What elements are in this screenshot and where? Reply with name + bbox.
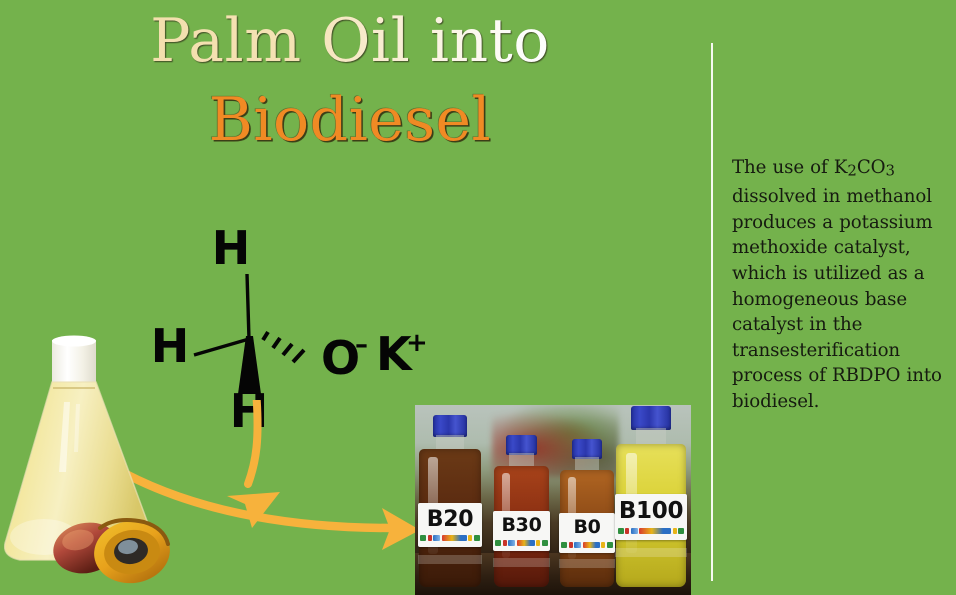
atom-hydrogen-bottom: H (230, 384, 269, 437)
bottle-cap-b30 (506, 435, 537, 455)
infographic-poster: Palm Oil into Biodiesel The use of K2CO3… (0, 0, 956, 595)
description-paragraph: The use of K2CO3 dissolved in methanol p… (732, 155, 948, 415)
bottle-cap-b0 (572, 439, 602, 459)
bottle-b30: B30 (494, 435, 549, 587)
bottle-label-text-b0: B0 (573, 518, 600, 537)
bottle-logo-strip-b0 (561, 541, 613, 548)
flask-and-palm-fruit (4, 332, 180, 595)
poster-title: Palm Oil into Biodiesel (0, 6, 700, 152)
bond-hash-carbon-oxygen (263, 332, 304, 362)
potassium-positive-charge: + (406, 328, 428, 358)
bottle-b0: B0 (560, 439, 614, 587)
atom-hydrogen-top: H (212, 221, 251, 275)
description-text-before: The use of K (732, 157, 847, 178)
flask-neck (52, 340, 96, 386)
bond-carbon-hydrogen-top (247, 274, 249, 339)
chemical-structure-potassium-methoxide: H H H O – K + (150, 212, 450, 437)
vertical-divider (711, 43, 713, 581)
title-line-primary: Palm Oil into (0, 6, 700, 75)
bottle-base-strip-b0 (559, 559, 615, 568)
bottle-b20: B20 (419, 415, 481, 587)
bottle-b100: B100 (616, 406, 686, 587)
bottle-logo-strip-b20 (420, 535, 479, 542)
title-line-secondary: Biodiesel (0, 75, 700, 152)
bottle-cap-b100 (631, 406, 670, 430)
short-arrow-head (227, 492, 280, 528)
oxygen-negative-charge: – (355, 330, 368, 360)
description-text-after: dissolved in methanol produces a potassi… (732, 186, 942, 412)
formula-subscript-two: 2 (847, 162, 856, 180)
bottle-label-b20: B20 (418, 503, 482, 547)
bottle-cap-b20 (433, 415, 468, 437)
bottle-label-b100: B100 (615, 494, 688, 540)
bottle-base-strip-b30 (493, 558, 550, 567)
bottle-label-text-b20: B20 (427, 509, 473, 531)
formula-mid: CO (857, 157, 886, 178)
bottle-base-strip-b100 (615, 548, 688, 557)
bottle-label-text-b100: B100 (619, 500, 683, 523)
bond-carbon-hydrogen-left (194, 339, 249, 355)
bottle-base-strip-b20 (418, 555, 482, 564)
bottle-label-b30: B30 (493, 511, 550, 551)
formula-subscript-three: 3 (885, 162, 894, 180)
bottle-label-b0: B0 (559, 513, 615, 553)
bottle-label-text-b30: B30 (501, 516, 541, 535)
flask-mouth (52, 336, 96, 347)
bottle-logo-strip-b100 (618, 527, 685, 534)
biodiesel-bottles-photo: B20 B30 (415, 405, 691, 595)
bottle-logo-strip-b30 (495, 539, 548, 546)
